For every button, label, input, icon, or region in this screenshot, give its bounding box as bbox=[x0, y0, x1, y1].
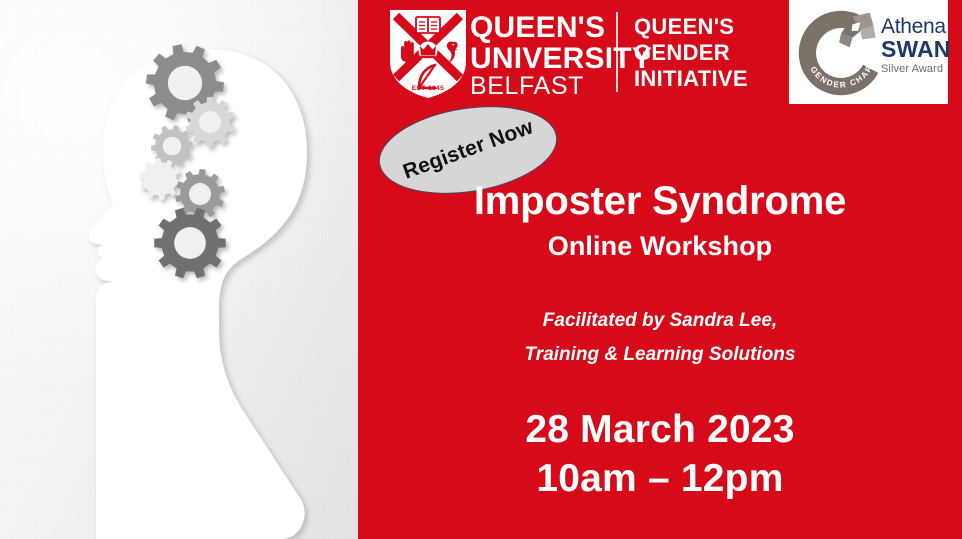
queens-university-wordmark: QUEEN'S UNIVERSITY BELFAST bbox=[470, 13, 652, 100]
event-poster: EST 1845 QUEEN'S UNIVERSITY BELFAST QUEE… bbox=[0, 0, 962, 539]
gears-group bbox=[0, 0, 358, 539]
event-time: 10am – 12pm bbox=[358, 457, 962, 501]
silver-award-text: Silver Award bbox=[881, 64, 950, 75]
athena-word: Athena bbox=[881, 16, 950, 37]
swan-word: SWAN bbox=[881, 38, 950, 61]
illustration-panel bbox=[0, 0, 358, 539]
queens-gender-initiative-wordmark: QUEEN'S GENDER INITIATIVE bbox=[634, 14, 748, 92]
event-date: 28 March 2023 bbox=[358, 408, 962, 452]
gear-6-icon bbox=[154, 208, 226, 279]
poster-body: Imposter Syndrome Online Workshop Facili… bbox=[358, 180, 962, 501]
header-divider bbox=[616, 12, 618, 92]
facilitator-line-1: Facilitated by Sandra Lee, bbox=[358, 304, 962, 338]
qgi-line-queens: QUEEN'S bbox=[634, 14, 748, 40]
queens-university-crest-icon: EST 1845 bbox=[388, 8, 468, 100]
facilitator-line-2: Training & Learning Solutions bbox=[358, 338, 962, 372]
wordmark-line-belfast: BELFAST bbox=[470, 74, 652, 100]
wordmark-line-queens: QUEEN'S bbox=[470, 13, 652, 44]
facilitator-block: Facilitated by Sandra Lee, Training & Le… bbox=[358, 304, 962, 372]
register-now-label: Register Now bbox=[400, 115, 537, 184]
event-title: Imposter Syndrome bbox=[358, 180, 962, 223]
event-subtitle: Online Workshop bbox=[358, 231, 962, 262]
qgi-line-gender: GENDER bbox=[634, 40, 748, 66]
athena-swan-text-block: Athena SWAN Silver Award bbox=[881, 16, 950, 75]
content-panel: EST 1845 QUEEN'S UNIVERSITY BELFAST QUEE… bbox=[358, 0, 962, 539]
wordmark-line-university: UNIVERSITY bbox=[470, 44, 652, 75]
poster-header: EST 1845 QUEEN'S UNIVERSITY BELFAST QUEE… bbox=[358, 0, 962, 110]
athena-swan-logo: GENDER CHARTER Athena SWAN Silver Award bbox=[789, 0, 948, 104]
crest-est-text: EST 1845 bbox=[412, 85, 444, 92]
gender-charter-ring-icon: GENDER CHARTER bbox=[793, 5, 889, 101]
qgi-line-initiative: INITIATIVE bbox=[634, 66, 748, 92]
